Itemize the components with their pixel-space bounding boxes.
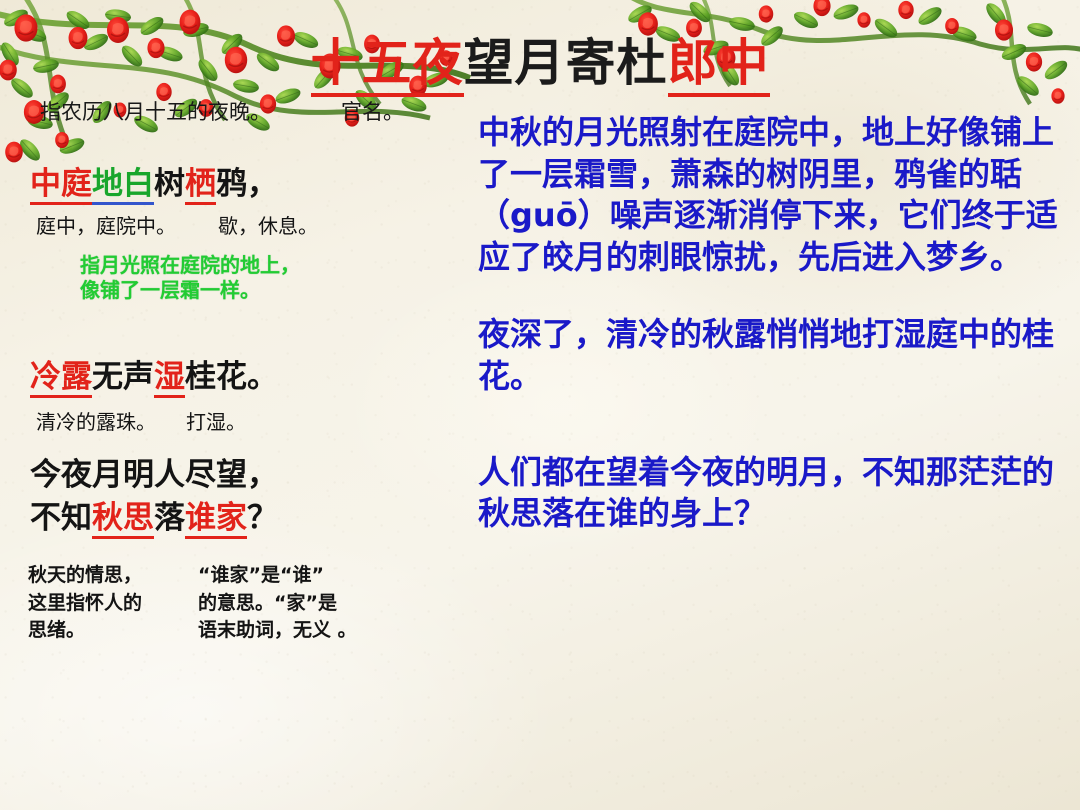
translation-paragraph-1: 中秋的月光照射在庭院中，地上好像铺上了一层霜雪，萧森的树阴里，鸦雀的聒（guō）…	[478, 112, 1058, 278]
poem-line-4: 不知秋思落谁家？	[30, 500, 470, 537]
stanza1-note-green-line-2: 像铺了一层霜一样。	[80, 278, 470, 303]
pinyin-guo: guō	[510, 196, 578, 234]
poem-4-seg-qiusi: 秋思	[92, 500, 154, 539]
title-part-2: 望月寄杜	[464, 33, 668, 92]
title-part-3: 郎中	[668, 33, 770, 97]
stanza2-gloss-row: 清冷的露珠。 打湿。	[36, 409, 470, 435]
poem-2-seg-guihua: 桂花。	[185, 359, 278, 395]
stanza2-gloss-right: 打湿。	[186, 409, 246, 435]
translation-p3-text: 人们都在望着今夜的明月，不知那茫茫的秋思落在谁的身上？	[478, 453, 1054, 533]
translation-p2-text: 夜深了，清冷的秋露悄悄地打湿庭中的桂花。	[478, 315, 1054, 395]
header-gloss-right: 官名。	[341, 96, 404, 126]
poem-4-seg-luo: 落	[154, 500, 185, 536]
footnote-column-1: 秋天的情思， 这里指怀人的 思绪。	[28, 562, 198, 645]
footnote-column-2: “谁家”是“谁” 的意思。“家”是 语末助词，无义 。	[198, 562, 357, 645]
poem-2-seg-lenglu: 冷露	[30, 359, 92, 398]
translation-paragraph-2: 夜深了，清冷的秋露悄悄地打湿庭中的桂花。	[478, 314, 1058, 397]
slide-canvas: 十五夜望月寄杜郎中 指农历八月十五的夜晚。 官名。 中庭地白树栖鸦， 庭中，庭院…	[0, 0, 1080, 810]
header-gloss-row: 指农历八月十五的夜晚。 官名。	[40, 96, 470, 126]
poem-1-seg-zhongting: 中庭	[30, 166, 92, 205]
poem-1-seg-qi: 栖	[185, 166, 216, 205]
poem-4-seg-buzhi: 不知	[30, 500, 92, 536]
stanza2-gloss-left: 清冷的露珠。	[36, 409, 156, 435]
poem-4-seg-question: ？	[247, 500, 278, 536]
poem-1-seg-ya: 鸦，	[216, 166, 278, 202]
header-gloss-left: 指农历八月十五的夜晚。	[40, 96, 271, 126]
title-part-1: 十五夜	[311, 33, 464, 97]
poem-line-2: 冷露无声湿桂花。	[30, 359, 470, 396]
right-column-translation: 中秋的月光照射在庭院中，地上好像铺上了一层霜雪，萧森的树阴里，鸦雀的聒（guō）…	[478, 112, 1058, 535]
poem-1-seg-dibai: 地白	[92, 166, 154, 205]
stanza1-note-green: 指月光照在庭院的地上， 像铺了一层霜一样。	[80, 253, 470, 303]
stanza1-gloss-right: 歇，休息。	[218, 213, 318, 239]
poem-2-seg-shi: 湿	[154, 359, 185, 398]
translation-paragraph-3: 人们都在望着今夜的明月，不知那茫茫的秋思落在谁的身上？	[478, 452, 1058, 535]
poem-2-seg-wusheng: 无声	[92, 359, 154, 395]
stanza1-gloss-left: 庭中，庭院中。	[36, 213, 176, 239]
poem-4-seg-shuijia: 谁家	[185, 500, 247, 539]
poem-line-1: 中庭地白树栖鸦，	[30, 166, 470, 203]
poem-3-line-1: 今夜月明人尽望，	[30, 457, 278, 493]
left-column: 指农历八月十五的夜晚。 官名。 中庭地白树栖鸦， 庭中，庭院中。 歇，休息。 指…	[0, 96, 470, 645]
footnotes-row: 秋天的情思， 这里指怀人的 思绪。 “谁家”是“谁” 的意思。“家”是 语末助词…	[28, 562, 470, 645]
slide-title: 十五夜望月寄杜郎中	[0, 36, 1080, 90]
poem-1-seg-shu: 树	[154, 166, 185, 202]
poem-line-3: 今夜月明人尽望，	[30, 457, 470, 494]
stanza1-gloss-row: 庭中，庭院中。 歇，休息。	[36, 213, 470, 239]
stanza1-note-green-line-1: 指月光照在庭院的地上，	[80, 253, 470, 278]
